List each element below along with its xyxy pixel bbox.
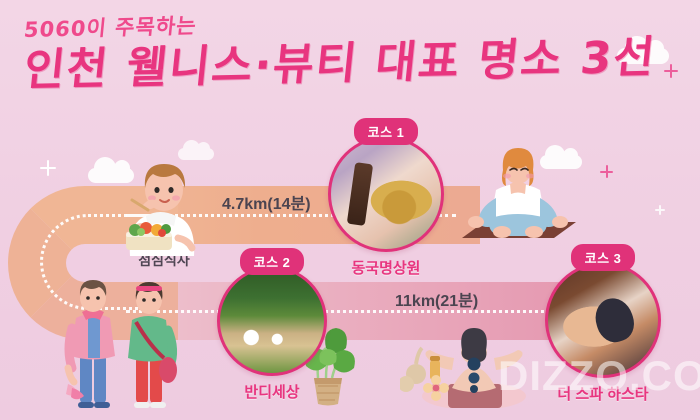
poster-headline: 5060이 주목하는 인천 웰니스·뷰티 대표 명소 3선 (24, 14, 654, 95)
sparkle-decoration (40, 160, 56, 176)
course-name-3: 더 스파 하스타 (540, 383, 666, 404)
woman-eating-salad-illustration (108, 160, 218, 256)
sparkle-decoration (655, 205, 665, 215)
distance-label-segment-2: 11km(21분) (395, 287, 478, 311)
infographic-poster: 5060이 주목하는 인천 웰니스·뷰티 대표 명소 3선 4.7km(14분)… (0, 0, 700, 420)
sparkle-decoration (600, 165, 613, 178)
course-name-2: 반디세상 (212, 381, 332, 402)
meditating-woman-illustration (452, 140, 584, 250)
course-node-3[interactable]: 코스 3 더 스파 하스타 (540, 244, 666, 404)
course-badge-3: 코스 3 (571, 244, 636, 271)
course-node-2[interactable]: 코스 2 반디세상 (212, 248, 332, 402)
course-badge-1: 코스 1 (354, 118, 419, 145)
course-photo-2[interactable] (217, 266, 327, 376)
headline-title: 인천 웰니스·뷰티 대표 명소 3선 (22, 35, 659, 95)
cloud-decoration (178, 148, 214, 160)
two-walking-women-illustration (58, 272, 190, 412)
spa-hot-stone-massage-illustration (400, 312, 548, 408)
course-badge-2: 코스 2 (240, 248, 305, 275)
course-photo-1[interactable] (328, 136, 444, 252)
course-photo-3[interactable] (545, 262, 661, 378)
sparkle-decoration (664, 64, 678, 78)
course-node-1[interactable]: 코스 1 동국명상원 (326, 118, 446, 278)
course-name-1: 동국명상원 (326, 257, 446, 278)
distance-label-segment-1: 4.7km(14분) (222, 190, 311, 214)
